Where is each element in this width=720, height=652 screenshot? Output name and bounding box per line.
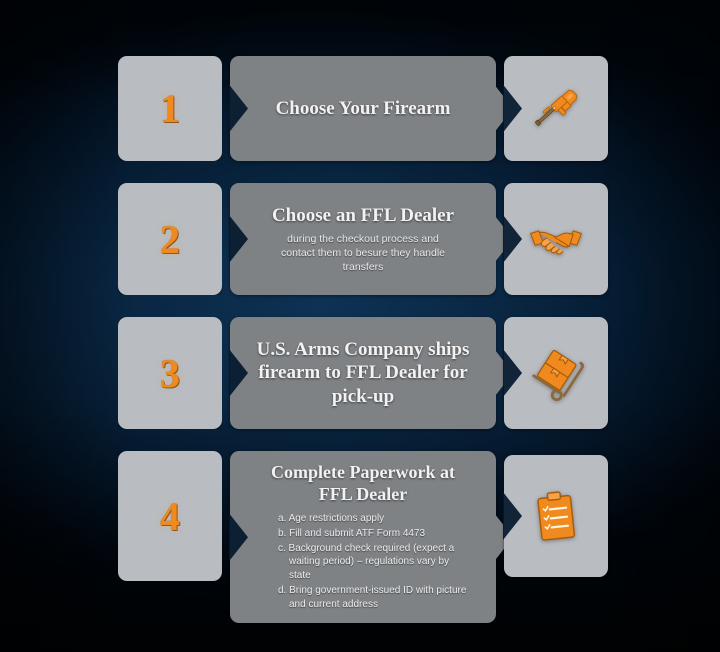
step-detail-list: a. Age restrictions apply b. Fill and su… xyxy=(256,512,470,613)
step-number-badge: 2 xyxy=(118,183,222,295)
badge-inner: 4 xyxy=(118,451,222,581)
icon-panel-left-notch xyxy=(503,349,522,397)
rifle-icon xyxy=(527,80,585,138)
step-row: 3 U.S. Arms Company ships firearm to FFL… xyxy=(118,317,608,429)
list-item: a. Age restrictions apply xyxy=(278,512,470,526)
step-subtitle: during the checkout process and contact … xyxy=(270,232,456,275)
list-item: c. Background check required (expect a w… xyxy=(278,542,470,583)
step-row: 4 Complete Paperwork at FFL Dealer a. Ag… xyxy=(118,451,608,623)
step-number-badge: 1 xyxy=(118,56,222,161)
step-number-badge: 3 xyxy=(118,317,222,429)
step-title: Complete Paperwork at FFL Dealer xyxy=(256,462,470,506)
icon-panel-left-notch xyxy=(503,492,522,540)
step-icon-panel xyxy=(504,183,608,295)
step-row: 1 Choose Your Firearm xyxy=(118,56,608,161)
step-icon-panel xyxy=(504,56,608,161)
step-content-panel: U.S. Arms Company ships firearm to FFL D… xyxy=(230,317,496,429)
step-number: 4 xyxy=(118,451,222,581)
step-icon-panel xyxy=(504,455,608,577)
infographic-canvas: 1 Choose Your Firearm xyxy=(0,0,720,652)
step-content-panel: Choose Your Firearm xyxy=(230,56,496,161)
handshake-icon xyxy=(527,210,585,268)
panel-left-notch xyxy=(229,215,248,263)
step-number: 2 xyxy=(118,183,222,295)
panel-left-notch xyxy=(229,349,248,397)
step-content-panel: Complete Paperwork at FFL Dealer a. Age … xyxy=(230,451,496,623)
panel-left-notch xyxy=(229,85,248,133)
step-title: Choose an FFL Dealer xyxy=(256,204,470,227)
step-icon-panel xyxy=(504,317,608,429)
badge-inner: 2 xyxy=(118,183,222,295)
step-row: 2 Choose an FFL Dealer during the checko… xyxy=(118,183,608,295)
step-number: 1 xyxy=(118,56,222,161)
hand-truck-icon xyxy=(527,344,585,402)
list-item: d. Bring government-issued ID with pictu… xyxy=(278,584,470,612)
panel-left-notch xyxy=(229,513,248,561)
icon-panel-left-notch xyxy=(503,85,522,133)
step-title: Choose Your Firearm xyxy=(256,97,470,120)
step-number: 3 xyxy=(118,317,222,429)
badge-inner: 3 xyxy=(118,317,222,429)
step-content-panel: Choose an FFL Dealer during the checkout… xyxy=(230,183,496,295)
step-title: U.S. Arms Company ships firearm to FFL D… xyxy=(256,338,470,408)
list-item: b. Fill and submit ATF Form 4473 xyxy=(278,527,470,541)
icon-panel-left-notch xyxy=(503,215,522,263)
step-number-badge: 4 xyxy=(118,451,222,581)
clipboard-icon xyxy=(527,487,585,545)
steps-list: 1 Choose Your Firearm xyxy=(118,56,608,645)
badge-inner: 1 xyxy=(118,56,222,161)
